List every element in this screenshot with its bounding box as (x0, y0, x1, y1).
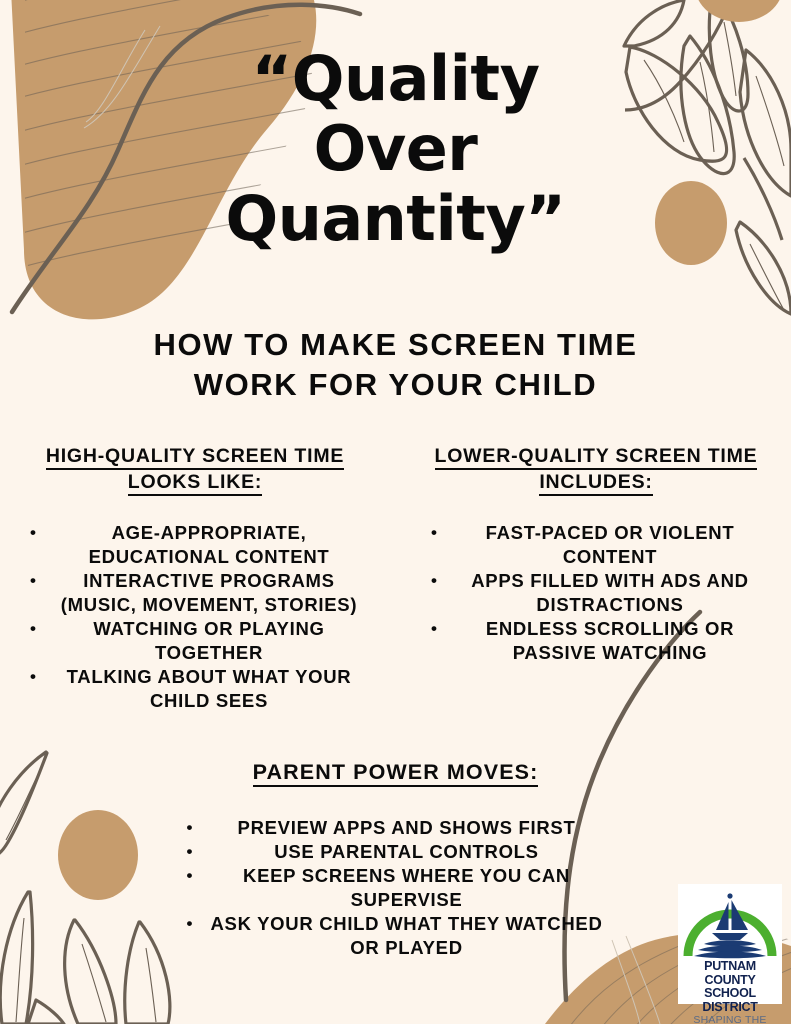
list-item: PREVIEW APPS AND SHOWS FIRST (181, 816, 611, 840)
list-item: AGE-APPROPRIATE, EDUCATIONAL CONTENT (18, 521, 372, 568)
subtitle-line-1: HOW TO MAKE SCREEN TIME (0, 325, 791, 365)
parent-power-moves-list: PREVIEW APPS AND SHOWS FIRST USE PARENTA… (181, 816, 611, 960)
logo-text-block: PUTNAM COUNTY SCHOOL DISTRICT SHAPING TH… (678, 960, 782, 1024)
list-item: ASK YOUR CHILD WHAT THEY WATCHED OR PLAY… (181, 912, 611, 960)
list-item: INTERACTIVE PROGRAMS (MUSIC, MOVEMENT, S… (18, 569, 372, 616)
subtitle-line-2: WORK FOR YOUR CHILD (0, 365, 791, 405)
logo-line-2: SCHOOL DISTRICT (678, 987, 782, 1014)
column-heading-lower-quality: LOWER-QUALITY SCREEN TIME INCLUDES: (419, 443, 773, 495)
column-lower-quality: LOWER-QUALITY SCREEN TIME INCLUDES: FAST… (411, 443, 791, 665)
list-item: APPS FILLED WITH ADS AND DISTRACTIONS (419, 569, 773, 616)
high-quality-list: AGE-APPROPRIATE, EDUCATIONAL CONTENT INT… (18, 521, 372, 712)
parent-power-moves-section: PARENT POWER MOVES: PREVIEW APPS AND SHO… (0, 758, 791, 960)
list-item: TALKING ABOUT WHAT YOUR CHILD SEES (18, 665, 372, 712)
title-line-1: “Quality (0, 44, 791, 114)
column-heading-high-quality: HIGH-QUALITY SCREEN TIME LOOKS LIKE: (18, 443, 372, 495)
list-item: WATCHING OR PLAYING TOGETHER (18, 617, 372, 664)
putnam-county-school-district-logo: PUTNAM COUNTY SCHOOL DISTRICT SHAPING TH… (678, 884, 782, 1004)
sailboat-icon (678, 884, 782, 962)
poster-subtitle: HOW TO MAKE SCREEN TIME WORK FOR YOUR CH… (0, 325, 791, 405)
list-item: ENDLESS SCROLLING OR PASSIVE WATCHING (419, 617, 773, 664)
list-item: USE PARENTAL CONTROLS (181, 840, 611, 864)
poster-title: “Quality Over Quantity” (0, 44, 791, 254)
parent-power-moves-heading: PARENT POWER MOVES: (0, 758, 791, 786)
title-line-3: Quantity” (0, 184, 791, 254)
logo-line-1: PUTNAM COUNTY (678, 960, 782, 987)
comparison-columns: HIGH-QUALITY SCREEN TIME LOOKS LIKE: AGE… (0, 443, 791, 713)
poster-page: “Quality Over Quantity” HOW TO MAKE SCRE… (0, 0, 791, 1024)
logo-tagline: SHAPING THE FUTURE (678, 1014, 782, 1024)
title-line-2: Over (0, 114, 791, 184)
column-high-quality: HIGH-QUALITY SCREEN TIME LOOKS LIKE: AGE… (0, 443, 380, 713)
list-item: FAST-PACED OR VIOLENT CONTENT (419, 521, 773, 568)
list-item: KEEP SCREENS WHERE YOU CAN SUPERVISE (181, 864, 611, 912)
lower-quality-list: FAST-PACED OR VIOLENT CONTENT APPS FILLE… (419, 521, 773, 664)
